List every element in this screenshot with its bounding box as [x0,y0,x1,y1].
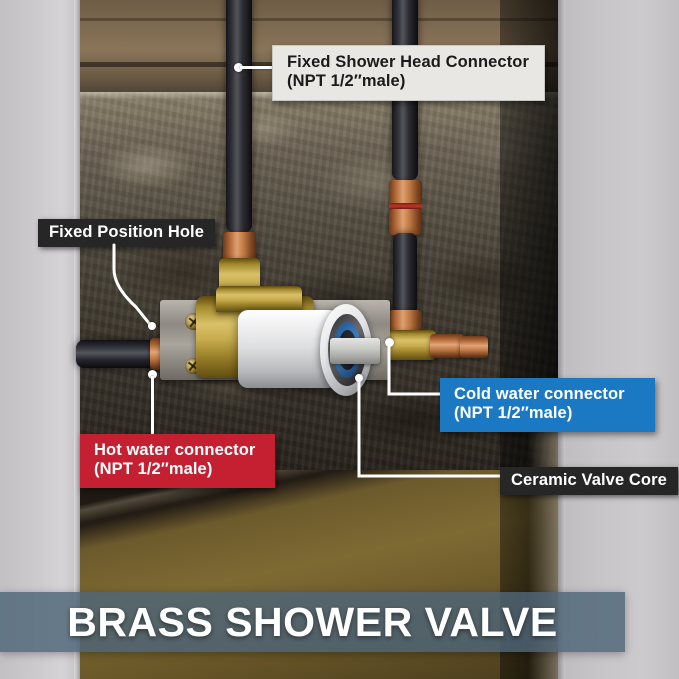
wall-panel-left [0,0,80,679]
callout-hot-water-connector[interactable]: Hot water connector (NPT 1/2″male) [80,434,275,488]
product-title-text: BRASS SHOWER VALVE [0,592,625,652]
ceramic-valve-core-stem [330,338,380,364]
callout-line-1: Hot water connector [94,441,261,460]
callout-line-1: Fixed Shower Head Connector [287,53,532,72]
callout-fixed-shower-head-connector[interactable]: Fixed Shower Head Connector (NPT 1/2″mal… [272,45,545,101]
product-photo-scene [0,0,679,679]
shower-pipe-right-lower [393,233,417,315]
callout-line-1: Ceramic Valve Core [511,471,667,490]
shower-riser-pipe-left [226,0,252,232]
callout-line-2: (NPT 1/2″male) [287,72,532,91]
callout-line-2: (NPT 1/2″male) [94,460,261,479]
leader-line-ceramic-valve-core [356,378,516,498]
product-infographic: Fixed Shower Head Connector (NPT 1/2″mal… [0,0,679,679]
hot-supply-pipe [76,340,160,368]
leader-line-shower-head [240,66,276,69]
leader-line-hot-water [151,376,154,436]
copper-coupling-right-lower [389,209,422,235]
callout-line-1: Fixed Position Hole [49,223,204,242]
leader-line-fixed-position-hole [110,243,230,343]
callout-ceramic-valve-core[interactable]: Ceramic Valve Core [500,467,678,495]
wall-panel-right [558,0,679,679]
leader-dot-fixed-position-hole [148,322,156,330]
